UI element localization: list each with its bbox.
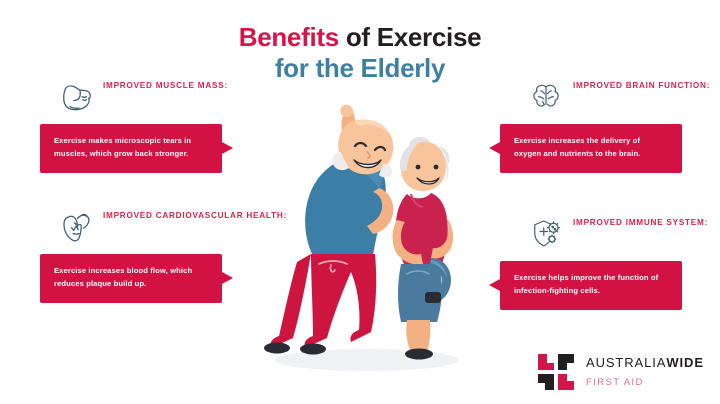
man-figure [264, 105, 393, 355]
benefit-bubble-muscle: Exercise makes microscopic tears in musc… [40, 124, 222, 173]
benefit-body-brain: Exercise increases the delivery of oxyge… [514, 136, 640, 158]
flexed-bicep-icon [58, 78, 94, 114]
benefit-body-immune: Exercise helps improve the function of i… [514, 273, 658, 295]
brain-icon [528, 78, 564, 114]
title-benefits: Benefits [239, 22, 339, 52]
logo-australia: AUSTRALIA [586, 355, 666, 370]
benefit-title-immune: IMPROVED IMMUNE SYSTEM: [573, 215, 708, 229]
elderly-couple-illustration [255, 60, 475, 380]
benefit-block-immune: IMPROVED IMMUNE SYSTEM: Exercise helps i… [528, 215, 708, 310]
benefit-block-cardio: IMPROVED CARDIOVASCULAR HEALTH: Exercise… [58, 208, 287, 303]
benefit-title-brain: IMPROVED BRAIN FUNCTION: [573, 78, 710, 92]
benefit-heading-immune: IMPROVED IMMUNE SYSTEM: [528, 215, 708, 251]
logo-first-aid: FIRST AID [586, 377, 644, 388]
benefit-heading-muscle: IMPROVED MUSCLE MASS: [58, 78, 228, 114]
heart-icon [58, 208, 94, 244]
benefit-block-muscle: IMPROVED MUSCLE MASS: Exercise makes mic… [58, 78, 228, 173]
benefit-bubble-cardio: Exercise increases blood flow, which red… [40, 254, 222, 303]
title-line-1: Benefits of Exercise [0, 22, 720, 53]
benefit-heading-cardio: IMPROVED CARDIOVASCULAR HEALTH: [58, 208, 287, 244]
australia-wide-first-aid-logo: AUSTRALIAWIDE FIRST AID [536, 352, 704, 392]
benefit-bubble-brain: Exercise increases the delivery of oxyge… [500, 124, 682, 173]
title-of-exercise: of Exercise [339, 22, 481, 52]
logo-line-1: AUSTRALIAWIDE [586, 355, 704, 370]
benefit-heading-brain: IMPROVED BRAIN FUNCTION: [528, 78, 710, 114]
infographic-poster: Benefits of Exercise for the Elderly IMP… [0, 0, 720, 404]
benefit-body-cardio: Exercise increases blood flow, which red… [54, 266, 192, 288]
shield-virus-icon [528, 215, 564, 251]
benefit-bubble-immune: Exercise helps improve the function of i… [500, 261, 682, 310]
benefit-body-muscle: Exercise makes microscopic tears in musc… [54, 136, 191, 158]
cross-logo-icon [536, 352, 576, 392]
man-head [332, 120, 393, 178]
benefit-block-brain: IMPROVED BRAIN FUNCTION: Exercise increa… [528, 78, 710, 173]
woman-figure [393, 137, 454, 360]
logo-wide: WIDE [666, 355, 704, 370]
logo-wordmark: AUSTRALIAWIDE FIRST AID [586, 354, 704, 390]
benefit-title-muscle: IMPROVED MUSCLE MASS: [103, 78, 228, 92]
